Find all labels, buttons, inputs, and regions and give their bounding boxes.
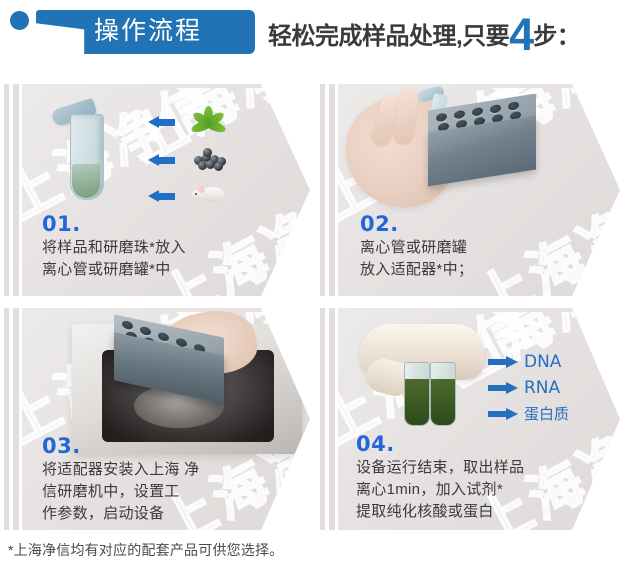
step-line: 离心1min，加入试剂* bbox=[356, 479, 524, 501]
step-02-text: 02. 离心管或研磨罐 放入适配器*中； bbox=[360, 212, 473, 281]
page-header: 操作流程 轻松完成样品处理,只要4步： bbox=[0, 0, 636, 68]
page-title-prefix: 轻松完成样品处理,只要 bbox=[268, 23, 509, 50]
side-bar-inner bbox=[13, 84, 19, 296]
plant-leaf-icon bbox=[192, 102, 224, 132]
step-03-text: 03. 将适配器安装入上海 净 信研磨机中，设置工 作参数，启动设备 bbox=[42, 434, 199, 525]
step-line: 作参数，启动设备 bbox=[42, 503, 199, 525]
step-04-illustration bbox=[360, 320, 490, 428]
side-bar-inner bbox=[329, 84, 335, 296]
left-arrow-icon bbox=[148, 154, 175, 167]
right-arrow-icon bbox=[488, 356, 518, 368]
page-title: 轻松完成样品处理,只要4步： bbox=[268, 17, 580, 55]
step-02-illustration bbox=[346, 88, 546, 208]
step-line: 离心管或研磨罐 bbox=[360, 237, 473, 259]
step-card-02-side-bars bbox=[320, 84, 336, 296]
tube-liquid bbox=[72, 164, 100, 198]
sample-tube-icon bbox=[430, 362, 456, 426]
step-number: 03. bbox=[42, 434, 199, 458]
step-card-04-body: 上海净信 上海净信 上海净信 DNA RNA 蛋白质 04. 设备运行结束，取出… bbox=[338, 308, 620, 530]
step-line: 提取纯化核酸或蛋白 bbox=[356, 501, 524, 523]
grinding-beads-icon bbox=[192, 148, 226, 170]
mouse-sample-icon bbox=[192, 182, 226, 204]
step-card-01-body: 上海净信 上海净信 上海净信 bbox=[22, 84, 310, 296]
step-line: 将样品和研磨珠*放入 bbox=[42, 237, 186, 259]
step-04-outputs: DNA RNA 蛋白质 bbox=[488, 350, 608, 430]
left-arrow-icon bbox=[148, 116, 175, 129]
side-bar-outer bbox=[4, 84, 9, 296]
step-01-illustration bbox=[40, 100, 250, 208]
step-line: 将适配器安装入上海 净 bbox=[42, 459, 199, 481]
step-card-01-side-bars bbox=[4, 84, 20, 296]
step-card-03-side-bars bbox=[4, 308, 20, 530]
page-title-step-count: 4 bbox=[509, 9, 533, 60]
page-title-suffix: 步： bbox=[533, 23, 580, 50]
step-card-01: 上海净信 上海净信 上海净信 bbox=[4, 84, 310, 296]
side-bar-inner bbox=[13, 308, 19, 530]
side-bar-outer bbox=[4, 308, 9, 530]
mouse-eye bbox=[195, 193, 197, 195]
step-card-04-side-bars bbox=[320, 308, 336, 530]
mouse-ear bbox=[198, 186, 205, 193]
step-line: 设备运行结束，取出样品 bbox=[356, 457, 524, 479]
footnote: *上海净信均有对应的配套产品可供您选择。 bbox=[8, 540, 283, 560]
side-bar-inner bbox=[329, 308, 335, 530]
sample-tube-icon bbox=[404, 362, 430, 426]
step-number: 01. bbox=[42, 212, 186, 236]
step-number: 02. bbox=[360, 212, 473, 236]
step-line: 放入适配器*中； bbox=[360, 259, 473, 281]
step-card-03-body: 上海净信 上海净信 上海净信 03. 将适配器安装入上海 净 信研磨 bbox=[22, 308, 310, 530]
step-card-02: 上海净信 上海净信 上海净信 02. bbox=[320, 84, 620, 296]
right-arrow-icon bbox=[488, 382, 518, 394]
header-dot-decoration bbox=[10, 11, 29, 30]
output-label-dna: DNA bbox=[524, 353, 561, 371]
step-01-text: 01. 将样品和研磨珠*放入 离心管或研磨罐*中 bbox=[42, 212, 186, 281]
step-card-04: 上海净信 上海净信 上海净信 DNA RNA 蛋白质 04. 设备运行结束，取出… bbox=[320, 308, 620, 530]
centrifuge-tube-icon bbox=[70, 114, 104, 200]
output-label-rna: RNA bbox=[524, 379, 560, 397]
step-card-02-body: 上海净信 上海净信 上海净信 02. bbox=[338, 84, 620, 296]
step-number: 04. bbox=[356, 432, 524, 456]
side-bar-outer bbox=[320, 84, 325, 296]
step-card-03: 上海净信 上海净信 上海净信 03. 将适配器安装入上海 净 信研磨 bbox=[4, 308, 310, 530]
step-line: 离心管或研磨罐*中 bbox=[42, 259, 186, 281]
output-label-protein: 蛋白质 bbox=[524, 405, 569, 423]
right-arrow-icon bbox=[488, 408, 518, 420]
left-arrow-icon bbox=[148, 190, 175, 203]
step-03-illustration bbox=[72, 318, 272, 438]
step-04-text: 04. 设备运行结束，取出样品 离心1min，加入试剂* 提取纯化核酸或蛋白 bbox=[356, 432, 524, 523]
header-banner-label: 操作流程 bbox=[94, 14, 202, 48]
side-bar-outer bbox=[320, 308, 325, 530]
step-line: 信研磨机中，设置工 bbox=[42, 481, 199, 503]
